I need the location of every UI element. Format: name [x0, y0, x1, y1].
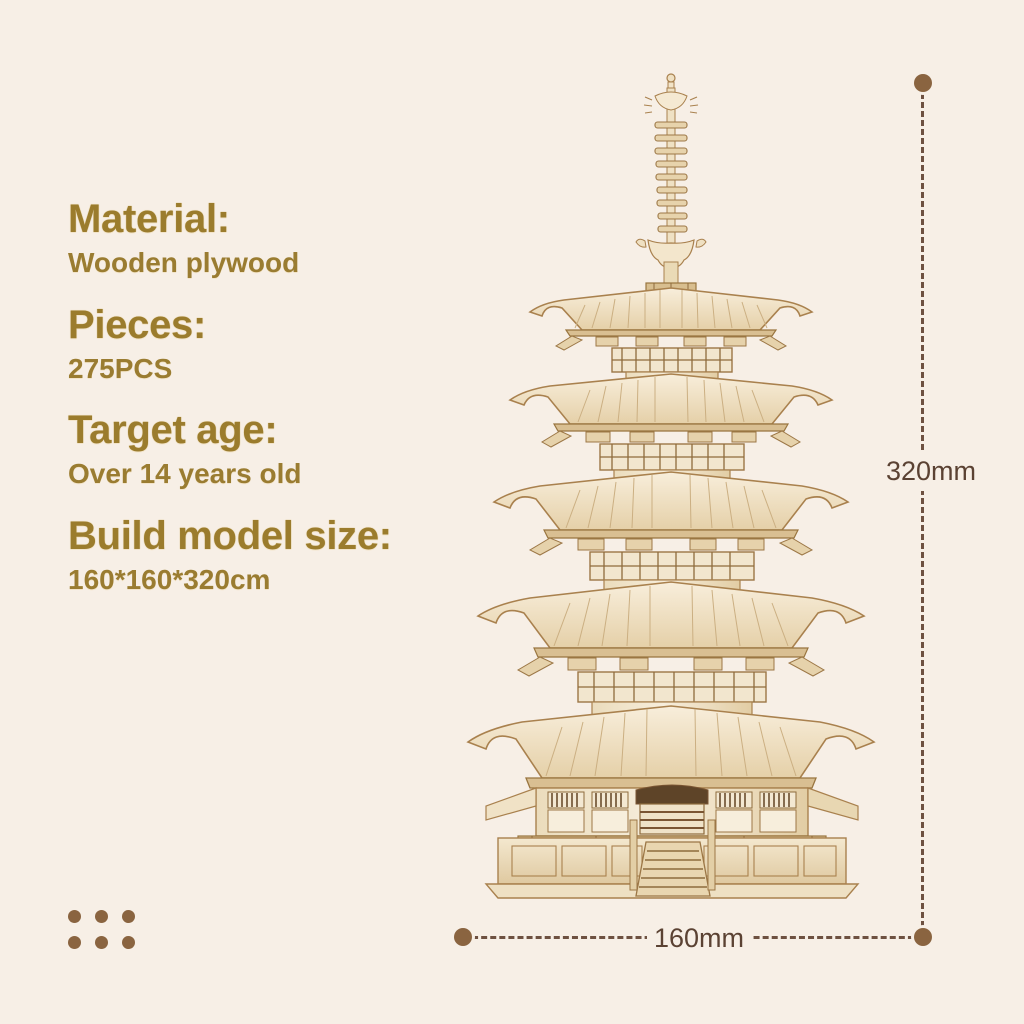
decorative-dot-grid — [68, 910, 149, 962]
spec-heading-build-size: Build model size: — [68, 513, 538, 560]
decorative-dot — [122, 910, 135, 923]
specification-list: Material: Wooden plywood Pieces: 275PCS … — [68, 196, 538, 618]
decorative-dot — [68, 936, 81, 949]
spec-value-pieces: 275PCS — [68, 351, 538, 387]
spec-item-pieces: Pieces: 275PCS — [68, 302, 538, 388]
pagoda-roof-tier-4 — [510, 374, 832, 488]
pagoda-roof-tier-1 — [468, 706, 874, 788]
infographic-canvas: Material: Wooden plywood Pieces: 275PCS … — [0, 0, 1024, 1024]
pagoda-roof-tier-3 — [494, 472, 848, 598]
spec-item-target-age: Target age: Over 14 years old — [68, 407, 538, 493]
width-dimension-label: 160mm — [647, 919, 751, 958]
height-dimension-line — [921, 84, 924, 936]
pagoda-spire — [636, 74, 706, 294]
dimension-endpoint-top — [914, 74, 932, 92]
height-dimension-label: 320mm — [879, 452, 983, 491]
decorative-dot — [95, 936, 108, 949]
spec-heading-material: Material: — [68, 196, 538, 243]
dimension-endpoint-left — [454, 928, 472, 946]
spec-value-target-age: Over 14 years old — [68, 456, 538, 492]
decorative-dot — [122, 936, 135, 949]
spec-value-build-size: 160*160*320cm — [68, 562, 538, 598]
spec-item-material: Material: Wooden plywood — [68, 196, 538, 282]
dimension-endpoint-corner — [914, 928, 932, 946]
decorative-dot — [68, 910, 81, 923]
spec-item-build-size: Build model size: 160*160*320cm — [68, 513, 538, 599]
decorative-dot — [95, 910, 108, 923]
spec-heading-pieces: Pieces: — [68, 302, 538, 349]
spec-value-material: Wooden plywood — [68, 245, 538, 281]
spec-heading-target-age: Target age: — [68, 407, 538, 454]
